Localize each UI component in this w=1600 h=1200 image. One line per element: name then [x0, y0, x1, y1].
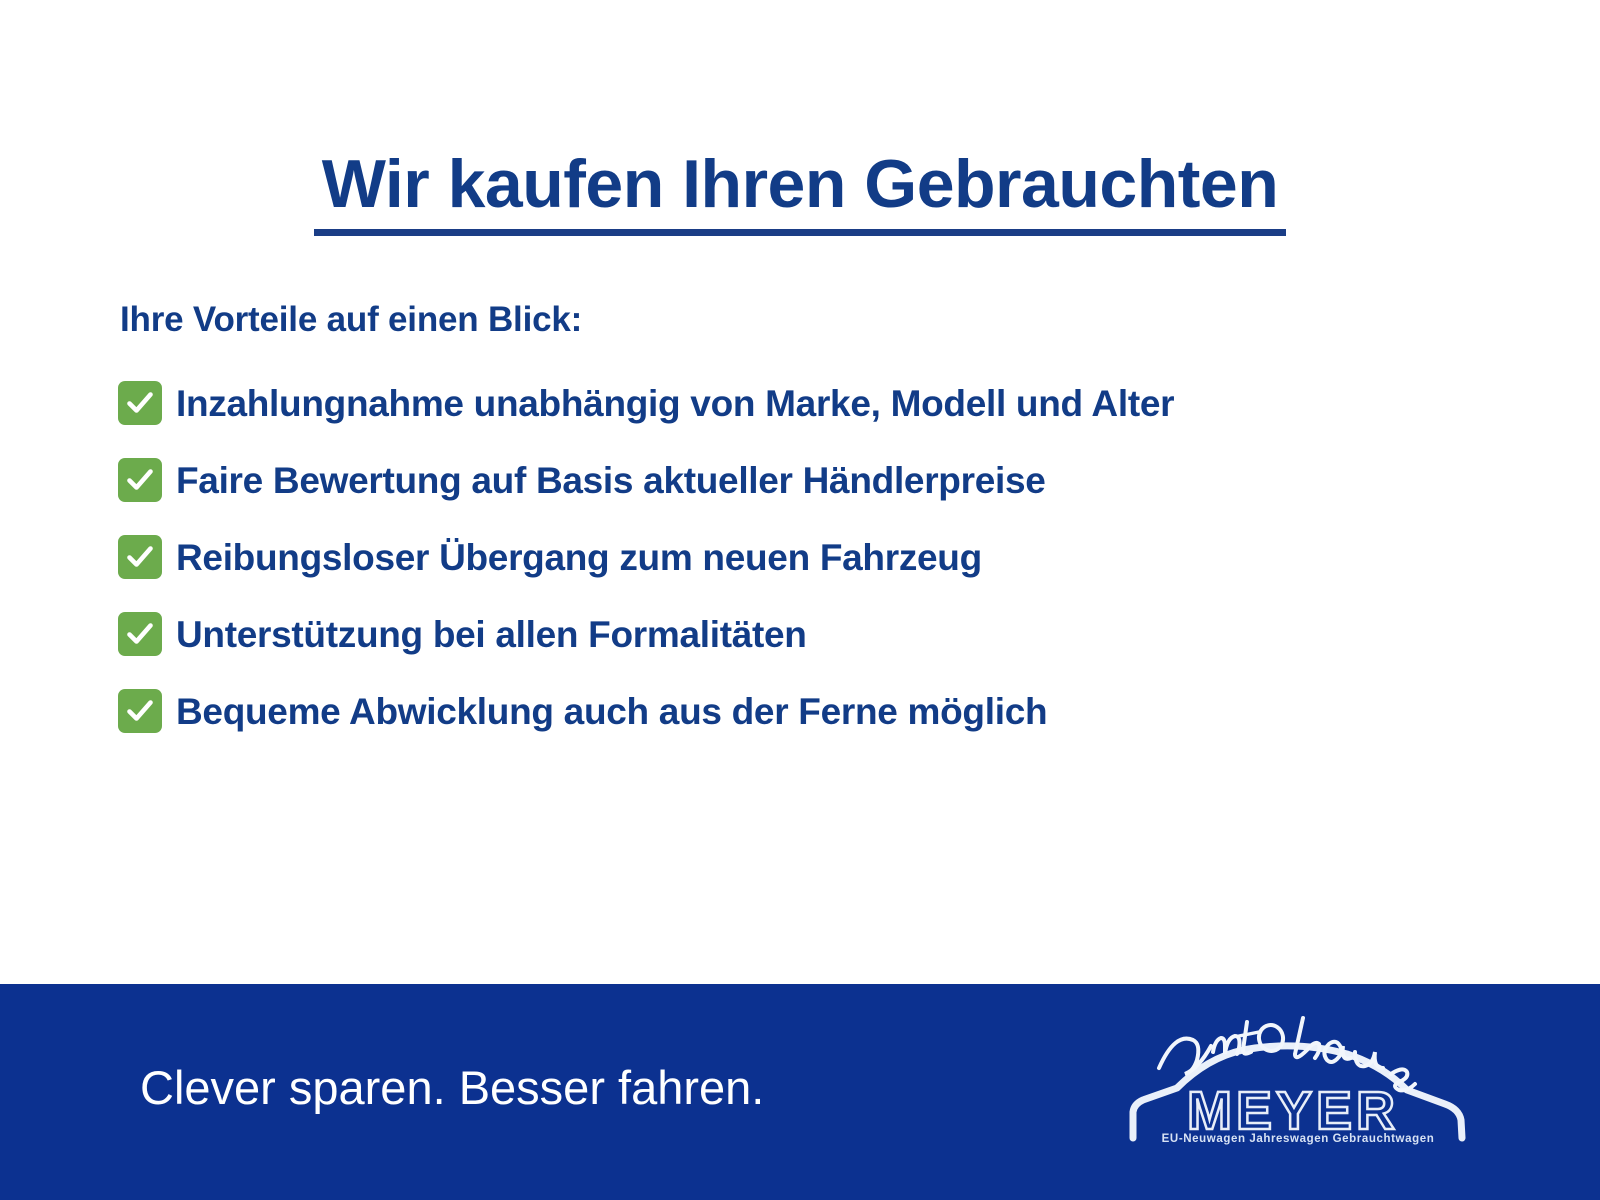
page-title: Wir kaufen Ihren Gebrauchten — [314, 150, 1286, 236]
company-logo: MEYER EU-Neuwagen Jahreswagen Gebrauchtw… — [1115, 996, 1475, 1151]
footer-banner: Clever sparen. Besser fahren. MEYER EU-N… — [0, 984, 1600, 1200]
benefit-label: Faire Bewertung auf Basis aktueller Händ… — [176, 462, 1046, 499]
benefits-subheading: Ihre Vorteile auf einen Blick: — [120, 300, 582, 340]
logo-wordmark: MEYER — [1143, 1084, 1443, 1138]
check-mark-icon — [118, 612, 162, 656]
list-item: Bequeme Abwicklung auch aus der Ferne mö… — [118, 682, 1518, 740]
benefit-label: Unterstützung bei allen Formalitäten — [176, 616, 807, 653]
benefit-label: Inzahlungnahme unabhängig von Marke, Mod… — [176, 385, 1174, 422]
list-item: Faire Bewertung auf Basis aktueller Händ… — [118, 451, 1518, 509]
check-mark-icon — [118, 381, 162, 425]
check-mark-icon — [118, 535, 162, 579]
logo-subtitle: EU-Neuwagen Jahreswagen Gebrauchtwagen — [1133, 1133, 1463, 1145]
check-mark-icon — [118, 458, 162, 502]
benefit-label: Reibungsloser Übergang zum neuen Fahrzeu… — [176, 539, 982, 576]
list-item: Unterstützung bei allen Formalitäten — [118, 605, 1518, 663]
list-item: Inzahlungnahme unabhängig von Marke, Mod… — [118, 374, 1518, 432]
footer-tagline: Clever sparen. Besser fahren. — [140, 1060, 764, 1115]
check-mark-icon — [118, 689, 162, 733]
benefit-label: Bequeme Abwicklung auch aus der Ferne mö… — [176, 693, 1047, 730]
benefits-list: Inzahlungnahme unabhängig von Marke, Mod… — [118, 374, 1518, 759]
advertisement-page: Wir kaufen Ihren Gebrauchten Ihre Vortei… — [0, 0, 1600, 1200]
list-item: Reibungsloser Übergang zum neuen Fahrzeu… — [118, 528, 1518, 586]
headline-container: Wir kaufen Ihren Gebrauchten — [0, 104, 1600, 281]
